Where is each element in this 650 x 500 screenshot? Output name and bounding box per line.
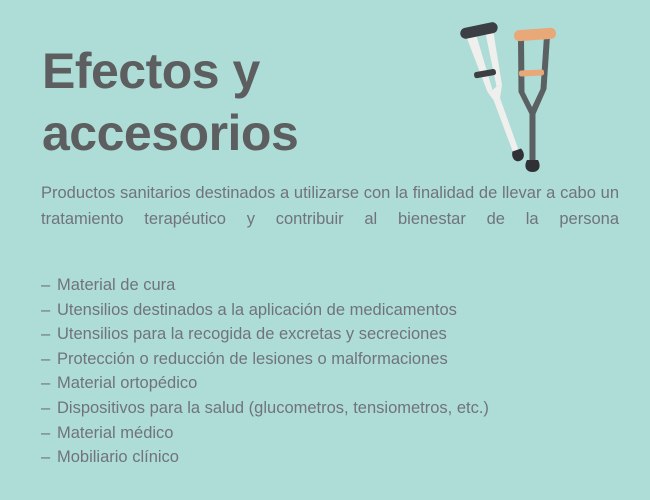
dash-bullet-icon: – <box>41 445 57 470</box>
list-item: – Protección o reducción de lesiones o m… <box>41 347 631 372</box>
left-crutch-icon <box>459 21 524 161</box>
list-item-label: Protección o reducción de lesiones o mal… <box>57 347 448 372</box>
list-item: – Utensilios para la recogida de excreta… <box>41 322 631 347</box>
dash-bullet-icon: – <box>41 396 57 421</box>
crutches-illustration <box>440 12 575 177</box>
list-item-label: Mobiliario clínico <box>57 445 179 470</box>
list-item-label: Utensilios para la recogida de excretas … <box>57 322 447 347</box>
list-item: – Mobiliario clínico <box>41 445 631 470</box>
dash-bullet-icon: – <box>41 273 57 298</box>
page-title: Efectos y accesorios <box>42 40 422 164</box>
list-item: – Material ortopédico <box>41 371 631 396</box>
dash-bullet-icon: – <box>41 347 57 372</box>
dash-bullet-icon: – <box>41 371 57 396</box>
feature-list: – Material de cura – Utensilios destinad… <box>41 273 631 470</box>
list-item: – Material médico <box>41 421 631 446</box>
list-item: – Utensilios destinados a la aplicación … <box>41 298 631 323</box>
list-item-label: Material de cura <box>57 273 175 298</box>
dash-bullet-icon: – <box>41 421 57 446</box>
dash-bullet-icon: – <box>41 298 57 323</box>
list-item-label: Material ortopédico <box>57 371 197 396</box>
list-item: – Material de cura <box>41 273 631 298</box>
slide-canvas: Efectos y accesorios Productos sanitario… <box>0 0 650 500</box>
list-item: – Dispositivos para la salud (glucometro… <box>41 396 631 421</box>
list-item-label: Material médico <box>57 421 173 446</box>
list-item-label: Utensilios destinados a la aplicación de… <box>57 298 457 323</box>
intro-paragraph: Productos sanitarios destinados a utiliz… <box>41 180 619 258</box>
list-item-label: Dispositivos para la salud (glucometros,… <box>57 396 489 421</box>
dash-bullet-icon: – <box>41 322 57 347</box>
